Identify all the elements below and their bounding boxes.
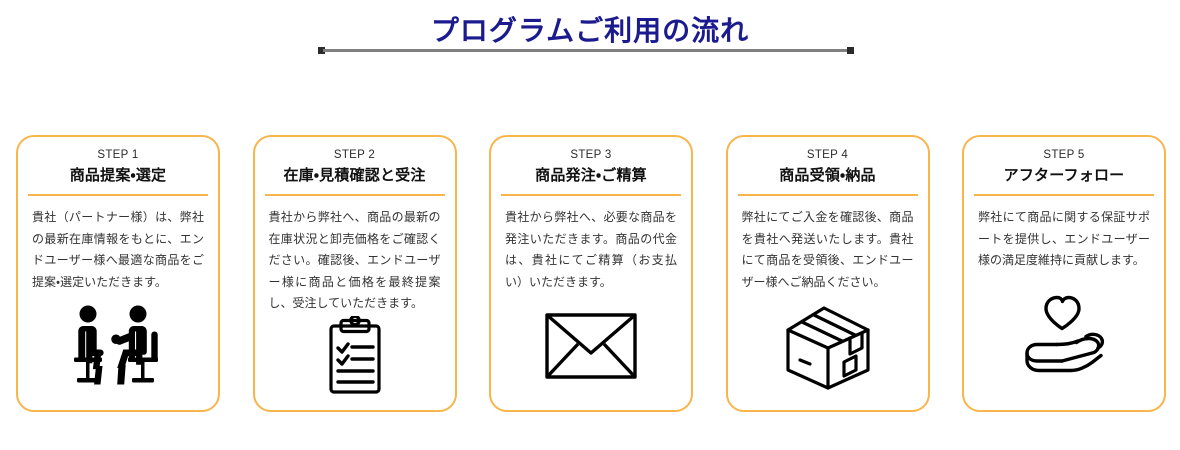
step-label: STEP 2 (264, 147, 446, 163)
page-title: プログラムご利用の流れ (0, 14, 1180, 48)
rule-cap-right-icon (847, 47, 854, 54)
hand-holding-heart-icon (973, 272, 1155, 411)
two-people-meeting-icon (27, 293, 209, 410)
step-heading: 商品提案・選定 (27, 165, 209, 187)
step-heading: 在庫・見積確認と受注 (264, 165, 446, 187)
step-heading: 商品発注・ご精算 (500, 165, 682, 187)
step-body: 貴社から弊社へ、商品の最新の在庫状況と卸売価格をご確認ください。確認後、エンドユ… (264, 207, 446, 315)
step-label: STEP 4 (737, 147, 919, 163)
step-body: 貴社から弊社へ、必要な商品を発注いただきます。商品の代金は、貴社にてご精算（お支… (500, 207, 682, 293)
rule-line (323, 49, 849, 52)
step-body: 貴社（パートナー様）は、弊社の最新在庫情報をもとに、エンドユーザー様へ最適な商品… (27, 207, 209, 293)
cardboard-box-icon (737, 293, 919, 410)
step-label: STEP 5 (973, 147, 1155, 163)
step-divider (265, 194, 445, 196)
step-divider (974, 194, 1154, 196)
step-divider (501, 194, 681, 196)
title-block: プログラムご利用の流れ (0, 14, 1180, 48)
step-card-3: STEP 3 商品発注・ご精算 貴社から弊社へ、必要な商品を発注いただきます。商… (489, 135, 693, 412)
step-heading: アフターフォロー (973, 165, 1155, 187)
step-body: 弊社にてご入金を確認後、商品を貴社へ発送いたします。貴社にて商品を受領後、エンド… (737, 207, 919, 293)
step-card-1: STEP 1 商品提案・選定 貴社（パートナー様）は、弊社の最新在庫情報をもとに… (16, 135, 220, 412)
program-flow-infographic: プログラムご利用の流れ STEP 1 商品提案・選定 貴社（パートナー様）は、弊… (0, 0, 1180, 450)
step-card-4: STEP 4 商品受領・納品 弊社にてご入金を確認後、商品を貴社へ発送いたします… (726, 135, 930, 412)
step-divider (738, 194, 918, 196)
steps-row: STEP 1 商品提案・選定 貴社（パートナー様）は、弊社の最新在庫情報をもとに… (16, 135, 1166, 412)
step-body: 弊社にて商品に関する保証サポートを提供し、エンドユーザー様の満足度維持に貢献しま… (973, 207, 1155, 272)
envelope-icon (500, 293, 682, 410)
title-underline-rule (318, 46, 854, 56)
clipboard-checklist-icon (264, 315, 446, 411)
step-heading: 商品受領・納品 (737, 165, 919, 187)
step-card-2: STEP 2 在庫・見積確認と受注 貴社から弊社へ、商品の最新の在庫状況と卸売価… (253, 135, 457, 412)
step-card-5: STEP 5 アフターフォロー 弊社にて商品に関する保証サポートを提供し、エンド… (962, 135, 1166, 412)
step-divider (28, 194, 208, 196)
step-label: STEP 1 (27, 147, 209, 163)
step-label: STEP 3 (500, 147, 682, 163)
